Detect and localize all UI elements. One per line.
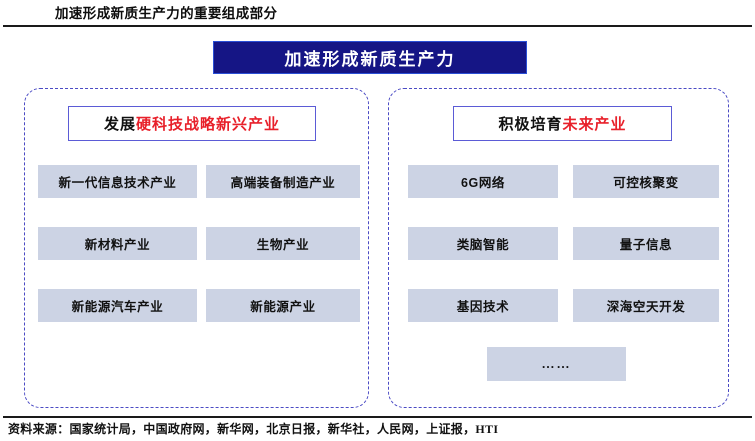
item-label: …… (542, 356, 572, 372)
panel-header-right-text: 积极培育未来产业 (498, 113, 626, 134)
exhibit-figure: 加速形成新质生产力的重要组成部分 加速形成新质生产力 发展硬科技战略新兴产业 新… (0, 0, 755, 441)
item-label: 类脑智能 (457, 234, 509, 253)
item-box: 6G网络 (408, 165, 558, 198)
panel-header-left-text: 发展硬科技战略新兴产业 (104, 113, 280, 134)
main-banner: 加速形成新质生产力 (213, 41, 527, 74)
item-box: 新材料产业 (38, 227, 197, 260)
item-box: 类脑智能 (408, 227, 558, 260)
item-label: 新材料产业 (85, 234, 151, 253)
item-box: 新能源汽车产业 (38, 289, 197, 322)
item-box: 高端装备制造产业 (206, 165, 360, 198)
item-box: 可控核聚变 (573, 165, 719, 198)
item-label: 新一代信息技术产业 (59, 172, 177, 191)
item-label: 可控核聚变 (613, 172, 679, 191)
item-box: 深海空天开发 (573, 289, 719, 322)
header-right-black-segment: 积极培育 (498, 117, 562, 133)
item-box-ellipsis: …… (487, 347, 626, 381)
item-label: 新能源产业 (250, 296, 316, 315)
divider-top (3, 25, 752, 27)
item-box: 新能源产业 (206, 289, 360, 322)
panel-header-right: 积极培育未来产业 (453, 106, 672, 141)
page-title: 加速形成新质生产力的重要组成部分 (55, 2, 277, 22)
item-label: 生物产业 (257, 234, 309, 253)
header-left-black-segment: 发展 (104, 117, 136, 133)
main-banner-label: 加速形成新质生产力 (285, 45, 456, 70)
item-label: 高端装备制造产业 (231, 172, 336, 191)
header-left-red-segment: 硬科技战略新兴产业 (136, 117, 280, 133)
divider-bottom (3, 416, 752, 418)
item-label: 深海空天开发 (607, 296, 686, 315)
header-right-red-segment: 未来产业 (563, 117, 627, 133)
item-box: 基因技术 (408, 289, 558, 322)
item-box: 生物产业 (206, 227, 360, 260)
item-label: 基因技术 (457, 296, 509, 315)
item-box: 量子信息 (573, 227, 719, 260)
source-note: 资料来源：国家统计局，中国政府网，新华网，北京日报，新华社，人民网，上证报，HT… (8, 420, 498, 437)
panel-header-left: 发展硬科技战略新兴产业 (68, 106, 316, 141)
item-label: 量子信息 (620, 234, 672, 253)
item-label: 新能源汽车产业 (72, 296, 164, 315)
item-box: 新一代信息技术产业 (38, 165, 197, 198)
item-label: 6G网络 (461, 172, 505, 191)
